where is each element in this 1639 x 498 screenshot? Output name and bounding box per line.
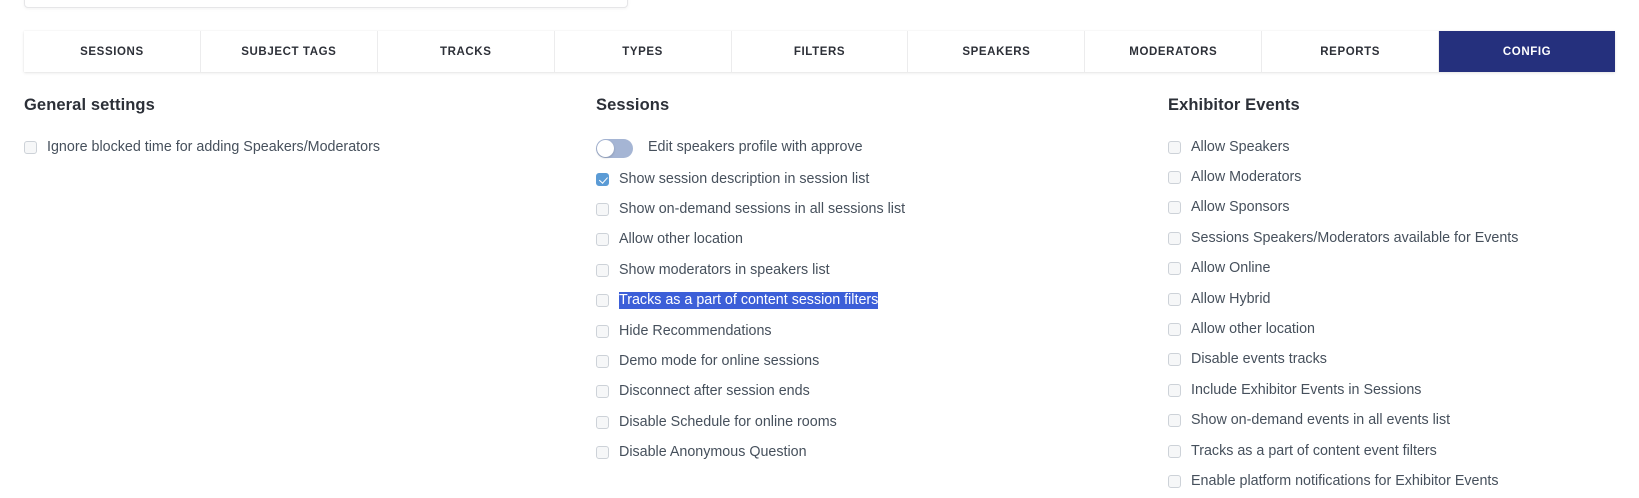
checkbox-unchecked-icon[interactable]: [1168, 171, 1181, 184]
checkbox-unchecked-icon[interactable]: [596, 355, 609, 368]
tab-config[interactable]: CONFIG: [1439, 31, 1615, 72]
option-label: Demo mode for online sessions: [619, 353, 819, 370]
panel-above-tabs-partial: [24, 0, 628, 8]
checkbox-row[interactable]: Allow other location: [596, 225, 1156, 255]
option-label: Show on-demand sessions in all sessions …: [619, 201, 905, 218]
settings-columns: General settings Ignore blocked time for…: [0, 96, 1639, 498]
checkbox-row[interactable]: Ignore blocked time for adding Speakers/…: [24, 132, 584, 162]
column-exhibitor-events: Exhibitor Events Allow SpeakersAllow Mod…: [1168, 96, 1628, 497]
option-list-sessions: Edit speakers profile with approveShow s…: [596, 132, 1156, 468]
checkbox-row[interactable]: Show on-demand events in all events list: [1168, 406, 1628, 436]
checkbox-row[interactable]: Sessions Speakers/Moderators available f…: [1168, 223, 1628, 253]
checkbox-unchecked-icon[interactable]: [1168, 141, 1181, 154]
column-general-settings: General settings Ignore blocked time for…: [24, 96, 584, 162]
tab-bar: SESSIONSSUBJECT TAGSTRACKSTYPESFILTERSSP…: [24, 31, 1615, 72]
column-title-exhibitor: Exhibitor Events: [1168, 96, 1628, 115]
option-label: Tracks as a part of content event filter…: [1191, 443, 1437, 460]
option-label: Disconnect after session ends: [619, 383, 810, 400]
checkbox-row[interactable]: Demo mode for online sessions: [596, 346, 1156, 376]
checkbox-row[interactable]: Allow Sponsors: [1168, 193, 1628, 223]
tab-types[interactable]: TYPES: [555, 31, 732, 72]
tab-subject-tags[interactable]: SUBJECT TAGS: [201, 31, 378, 72]
tab-moderators[interactable]: MODERATORS: [1085, 31, 1262, 72]
option-label: Enable platform notifications for Exhibi…: [1191, 473, 1499, 490]
checkbox-row[interactable]: Disable Anonymous Question: [596, 438, 1156, 468]
checkbox-unchecked-icon[interactable]: [1168, 475, 1181, 488]
checkbox-row[interactable]: Disable Schedule for online rooms: [596, 407, 1156, 437]
checkbox-unchecked-icon[interactable]: [1168, 293, 1181, 306]
option-label: Show moderators in speakers list: [619, 262, 830, 279]
option-list-exhibitor: Allow SpeakersAllow ModeratorsAllow Spon…: [1168, 132, 1628, 497]
option-label: Sessions Speakers/Moderators available f…: [1191, 230, 1518, 247]
toggle-row[interactable]: Edit speakers profile with approve: [596, 132, 1156, 164]
checkbox-unchecked-icon[interactable]: [596, 294, 609, 307]
checkbox-row[interactable]: Allow Hybrid: [1168, 284, 1628, 314]
column-title-general: General settings: [24, 96, 584, 115]
tab-reports[interactable]: REPORTS: [1262, 31, 1439, 72]
toggle-switch[interactable]: [596, 139, 633, 158]
config-page: SESSIONSSUBJECT TAGSTRACKSTYPESFILTERSSP…: [0, 0, 1639, 498]
toggle-knob: [597, 140, 614, 157]
tab-speakers[interactable]: SPEAKERS: [908, 31, 1085, 72]
checkbox-row[interactable]: Include Exhibitor Events in Sessions: [1168, 375, 1628, 405]
checkbox-unchecked-icon[interactable]: [596, 416, 609, 429]
option-label: Allow Online: [1191, 260, 1270, 277]
checkbox-row[interactable]: Hide Recommendations: [596, 316, 1156, 346]
checkbox-unchecked-icon[interactable]: [1168, 384, 1181, 397]
tab-filters[interactable]: FILTERS: [732, 31, 909, 72]
option-label: Show on-demand events in all events list: [1191, 412, 1450, 429]
checkbox-row[interactable]: Allow other location: [1168, 314, 1628, 344]
checkbox-checked-icon[interactable]: [596, 173, 609, 186]
option-label: Show session description in session list: [619, 171, 869, 188]
option-label: Tracks as a part of content session filt…: [619, 292, 878, 309]
checkbox-row[interactable]: Enable platform notifications for Exhibi…: [1168, 466, 1628, 496]
checkbox-row[interactable]: Allow Online: [1168, 254, 1628, 284]
checkbox-unchecked-icon[interactable]: [596, 264, 609, 277]
checkbox-unchecked-icon[interactable]: [1168, 414, 1181, 427]
checkbox-unchecked-icon[interactable]: [1168, 262, 1181, 275]
option-label: Disable Schedule for online rooms: [619, 414, 837, 431]
option-label: Edit speakers profile with approve: [648, 139, 863, 156]
checkbox-unchecked-icon[interactable]: [1168, 201, 1181, 214]
option-label: Allow Moderators: [1191, 169, 1301, 186]
option-label: Disable Anonymous Question: [619, 444, 807, 461]
checkbox-unchecked-icon[interactable]: [596, 385, 609, 398]
option-label: Allow Sponsors: [1191, 199, 1290, 216]
checkbox-unchecked-icon[interactable]: [1168, 445, 1181, 458]
tab-tracks[interactable]: TRACKS: [378, 31, 555, 72]
checkbox-unchecked-icon[interactable]: [596, 203, 609, 216]
option-label: Disable events tracks: [1191, 351, 1327, 368]
tab-sessions[interactable]: SESSIONS: [24, 31, 201, 72]
option-label: Allow other location: [1191, 321, 1315, 338]
checkbox-row[interactable]: Tracks as a part of content event filter…: [1168, 436, 1628, 466]
option-label: Hide Recommendations: [619, 323, 772, 340]
checkbox-row[interactable]: Allow Moderators: [1168, 162, 1628, 192]
checkbox-row[interactable]: Show on-demand sessions in all sessions …: [596, 194, 1156, 224]
option-label: Allow Hybrid: [1191, 291, 1270, 308]
checkbox-unchecked-icon[interactable]: [596, 233, 609, 246]
column-sessions: Sessions Edit speakers profile with appr…: [596, 96, 1156, 468]
checkbox-unchecked-icon[interactable]: [24, 141, 37, 154]
option-list-general: Ignore blocked time for adding Speakers/…: [24, 132, 584, 162]
column-title-sessions: Sessions: [596, 96, 1156, 115]
option-label: Ignore blocked time for adding Speakers/…: [47, 139, 380, 156]
checkbox-row[interactable]: Show session description in session list: [596, 164, 1156, 194]
option-label: Allow other location: [619, 231, 743, 248]
checkbox-unchecked-icon[interactable]: [1168, 232, 1181, 245]
checkbox-unchecked-icon[interactable]: [596, 446, 609, 459]
checkbox-row[interactable]: Show moderators in speakers list: [596, 255, 1156, 285]
checkbox-row[interactable]: Tracks as a part of content session filt…: [596, 286, 1156, 316]
checkbox-unchecked-icon[interactable]: [1168, 353, 1181, 366]
checkbox-row[interactable]: Disconnect after session ends: [596, 377, 1156, 407]
checkbox-unchecked-icon[interactable]: [1168, 323, 1181, 336]
checkbox-row[interactable]: Disable events tracks: [1168, 345, 1628, 375]
checkbox-unchecked-icon[interactable]: [596, 325, 609, 338]
checkbox-row[interactable]: Allow Speakers: [1168, 132, 1628, 162]
option-label: Allow Speakers: [1191, 139, 1290, 156]
option-label: Include Exhibitor Events in Sessions: [1191, 382, 1421, 399]
